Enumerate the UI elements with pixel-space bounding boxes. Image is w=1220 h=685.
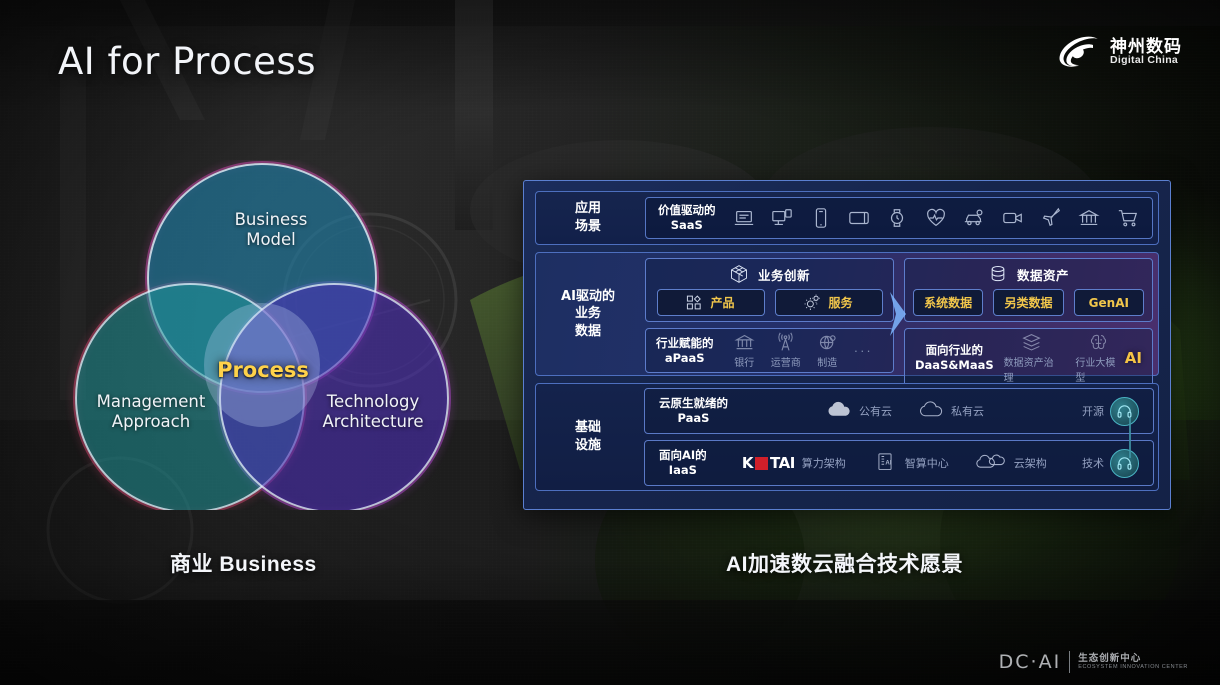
slide-canvas: AI for Process 神州数码 Digital China xyxy=(0,0,1220,685)
data-layers-icon xyxy=(1021,332,1042,353)
business-innovation-chips: 产品 服务 xyxy=(654,289,885,316)
daas-maas-label-line1: 面向行业的 xyxy=(915,343,994,358)
paas-items: 公有云 私有云 xyxy=(746,401,1064,421)
iaas-tail-label: 技术 xyxy=(1082,455,1104,471)
ai-overlay-mark: AI xyxy=(1125,349,1142,367)
chip-genai[interactable]: GenAI xyxy=(1074,289,1144,316)
venn-label-business-model: Business Model xyxy=(206,210,336,250)
chip-alternative-data[interactable]: 另类数据 xyxy=(993,289,1063,316)
item-private-cloud-label: 私有云 xyxy=(951,403,984,419)
venn-center-label-process: Process xyxy=(188,358,338,384)
apaas-card: 行业赋能的 aPaaS 银行 运营商 xyxy=(645,328,894,373)
headset-badge-icon xyxy=(1110,449,1139,478)
item-industry-large-model-label: 行业大模型 xyxy=(1075,354,1121,384)
brand-name-en: Digital China xyxy=(1110,55,1182,66)
venn-diagram: Business Model Management Approach Techn… xyxy=(62,160,462,510)
footer-divider xyxy=(1069,651,1070,673)
daas-maas-label-line2: DaaS&MaaS xyxy=(915,358,994,373)
footer-main-text: DC·AI xyxy=(999,651,1062,673)
venn-technology-line1: Technology xyxy=(300,392,446,412)
clouds-icon xyxy=(975,453,1007,473)
kutai-logo: K TAI xyxy=(742,454,795,472)
data-asset-column: 数据资产 系统数据 另类数据 GenAI xyxy=(899,253,1158,375)
apaas-label: 行业赋能的 aPaaS xyxy=(656,336,714,366)
mid-head-line3: 数据 xyxy=(561,323,615,341)
cloud-outline-icon xyxy=(918,401,944,421)
bank-icon xyxy=(1078,207,1100,229)
video-camera-icon xyxy=(1002,207,1024,229)
chip-system-data[interactable]: 系统数据 xyxy=(913,289,983,316)
badge-connector-line xyxy=(1129,418,1131,458)
brand-text: 神州数码 Digital China xyxy=(1110,38,1182,67)
chip-service-label: 服务 xyxy=(828,294,852,311)
band-ai-driven-business-data: AI驱动的 业务 数据 业务创新 xyxy=(535,252,1159,376)
brand-name-cn: 神州数码 xyxy=(1110,38,1182,56)
gears-icon xyxy=(804,294,821,311)
item-ai-datacenter-label: 智算中心 xyxy=(905,455,949,471)
apaas-industry-items: 银行 运营商 制造 ··· xyxy=(724,332,884,369)
shopping-cart-icon xyxy=(1117,207,1139,229)
venn-business-line2: Model xyxy=(206,230,336,250)
footer-sub-en: ECOSYSTEM INNOVATION CENTER xyxy=(1078,664,1188,670)
paas-label-line1: 云原生就绪的 xyxy=(659,396,728,411)
item-kutai-compute: K TAI 算力架构 xyxy=(742,454,846,472)
footer-sub-cn: 生态创新中心 xyxy=(1078,654,1188,665)
paas-tail-label: 开源 xyxy=(1082,403,1104,419)
item-private-cloud: 私有云 xyxy=(918,401,984,421)
technology-vision-panel: 应用 场景 价值驱动的 SaaS xyxy=(523,180,1171,510)
mid-head-line1: AI驱动的 xyxy=(561,288,615,306)
saas-label-line2: SaaS xyxy=(658,218,716,233)
item-ai-datacenter: AI 智算中心 xyxy=(872,453,949,473)
band-head-infrastructure: 基础 设施 xyxy=(536,384,640,490)
chip-alternative-data-label: 另类数据 xyxy=(1004,294,1052,311)
apaas-label-line2: aPaaS xyxy=(656,351,714,366)
gear-globe-icon xyxy=(817,332,838,353)
daas-maas-card: 面向行业的 DaaS&MaaS 数据资产治理 行业大模型 AI xyxy=(904,328,1153,388)
cube-mesh-icon xyxy=(729,264,749,284)
mid-head-line2: 业务 xyxy=(561,305,615,323)
caption-right: AI加速数云融合技术愿景 xyxy=(726,548,963,578)
kutai-prefix: K xyxy=(742,454,753,472)
apaas-item-manufacturing: 制造 xyxy=(817,332,838,369)
data-asset-chips: 系统数据 另类数据 GenAI xyxy=(913,289,1144,316)
apaas-item-bank-label: 银行 xyxy=(734,354,754,369)
kutai-suffix: TAI xyxy=(770,454,795,472)
venn-label-management-approach: Management Approach xyxy=(78,392,224,432)
airplane-icon xyxy=(1040,207,1062,229)
daas-maas-items: 数据资产治理 行业大模型 AI xyxy=(1004,332,1142,384)
inf-head-line2: 设施 xyxy=(575,437,601,455)
cloud-filled-icon xyxy=(826,401,852,421)
heart-pulse-icon xyxy=(925,207,947,229)
venn-technology-line2: Architecture xyxy=(300,412,446,432)
smartphone-icon xyxy=(810,207,832,229)
tablet-icon xyxy=(848,207,870,229)
apaas-item-bank: 银行 xyxy=(734,332,755,369)
item-cloud-architecture: 云架构 xyxy=(975,453,1047,473)
digital-china-swirl-icon xyxy=(1057,34,1101,70)
band-head-application-scenarios: 应用 场景 xyxy=(536,192,640,244)
band-head-ai-driven-business-data: AI驱动的 业务 数据 xyxy=(536,253,640,375)
item-data-governance-label: 数据资产治理 xyxy=(1004,354,1060,384)
chip-service[interactable]: 服务 xyxy=(775,289,883,316)
band-body-application-scenarios: 价值驱动的 SaaS xyxy=(640,192,1158,244)
iaas-items: K TAI 算力架构 AI 智算中心 云架构 xyxy=(725,453,1064,473)
caption-left: 商业 Business xyxy=(170,548,317,578)
chevron-right-icon xyxy=(886,288,912,340)
iaas-label: 面向AI的 IaaS xyxy=(659,448,707,478)
chip-product-label: 产品 xyxy=(710,294,734,311)
brain-circuit-icon xyxy=(1088,332,1109,353)
row-cloud-native-paas: 云原生就绪的 PaaS 公有云 私有云 开源 xyxy=(644,388,1154,434)
band-application-scenarios: 应用 场景 价值驱动的 SaaS xyxy=(535,191,1159,245)
ai-datacenter-icon: AI xyxy=(872,453,898,473)
row-ai-iaas: 面向AI的 IaaS K TAI 算力架构 xyxy=(644,440,1154,486)
item-industry-large-model: 行业大模型 xyxy=(1075,332,1121,384)
bank-icon xyxy=(734,332,755,353)
laptop-icon xyxy=(733,207,755,229)
daas-maas-label: 面向行业的 DaaS&MaaS xyxy=(915,343,994,373)
venn-management-line2: Approach xyxy=(78,412,224,432)
iaas-label-line1: 面向AI的 xyxy=(659,448,707,463)
page-title: AI for Process xyxy=(58,40,316,83)
blocks-icon xyxy=(686,294,703,311)
saas-scenarios-box: 价值驱动的 SaaS xyxy=(645,197,1153,239)
item-public-cloud-label: 公有云 xyxy=(859,403,892,419)
data-asset-card: 数据资产 系统数据 另类数据 GenAI xyxy=(904,258,1153,322)
svg-text:AI: AI xyxy=(885,461,891,467)
vehicle-icon xyxy=(963,207,985,229)
item-cloud-architecture-label: 云架构 xyxy=(1014,455,1047,471)
saas-section-label: 价值驱动的 SaaS xyxy=(658,203,716,233)
saas-label-line1: 价值驱动的 xyxy=(658,203,716,218)
apaas-more-ellipsis: ··· xyxy=(854,343,873,358)
chip-system-data-label: 系统数据 xyxy=(924,294,972,311)
headset-badge-icon xyxy=(1110,397,1139,426)
data-asset-title: 数据资产 xyxy=(1017,265,1069,284)
paas-label: 云原生就绪的 PaaS xyxy=(659,396,728,426)
business-innovation-column: 业务创新 产品 服务 行业赋能的 xyxy=(640,253,899,375)
chip-product[interactable]: 产品 xyxy=(657,289,765,316)
scenario-icon-row xyxy=(732,207,1141,229)
apaas-item-carrier-label: 运营商 xyxy=(771,354,801,369)
chip-genai-label: GenAI xyxy=(1089,296,1129,310)
venn-business-line1: Business xyxy=(206,210,336,230)
venn-label-technology-architecture: Technology Architecture xyxy=(300,392,446,432)
apaas-item-manufacturing-label: 制造 xyxy=(817,354,837,369)
apaas-item-carrier: 运营商 xyxy=(771,332,801,369)
business-innovation-card: 业务创新 产品 服务 xyxy=(645,258,894,322)
brand-logo: 神州数码 Digital China xyxy=(1057,34,1182,70)
data-asset-title-row: 数据资产 xyxy=(988,264,1069,284)
paas-label-line2: PaaS xyxy=(659,411,728,426)
kutai-block-icon xyxy=(755,457,768,470)
app-head-line1: 应用 xyxy=(575,200,601,218)
item-data-governance: 数据资产治理 xyxy=(1004,332,1060,384)
infrastructure-rows: 云原生就绪的 PaaS 公有云 私有云 开源 xyxy=(640,384,1158,490)
apaas-label-line1: 行业赋能的 xyxy=(656,336,714,351)
app-head-line2: 场景 xyxy=(575,218,601,236)
smartwatch-icon xyxy=(886,207,908,229)
database-icon xyxy=(988,264,1008,284)
inf-head-line1: 基础 xyxy=(575,419,601,437)
business-innovation-title-row: 业务创新 xyxy=(729,264,810,284)
workstation-icon xyxy=(771,207,793,229)
item-kutai-label: 算力架构 xyxy=(802,455,846,471)
venn-management-line1: Management xyxy=(78,392,224,412)
iaas-label-line2: IaaS xyxy=(659,463,707,478)
band-infrastructure: 基础 设施 云原生就绪的 PaaS 公有云 xyxy=(535,383,1159,491)
footer-subtext: 生态创新中心 ECOSYSTEM INNOVATION CENTER xyxy=(1078,654,1188,671)
item-public-cloud: 公有云 xyxy=(826,401,892,421)
business-innovation-title: 业务创新 xyxy=(758,265,810,284)
footer-watermark: DC·AI 生态创新中心 ECOSYSTEM INNOVATION CENTER xyxy=(999,651,1188,673)
antenna-icon xyxy=(775,332,796,353)
